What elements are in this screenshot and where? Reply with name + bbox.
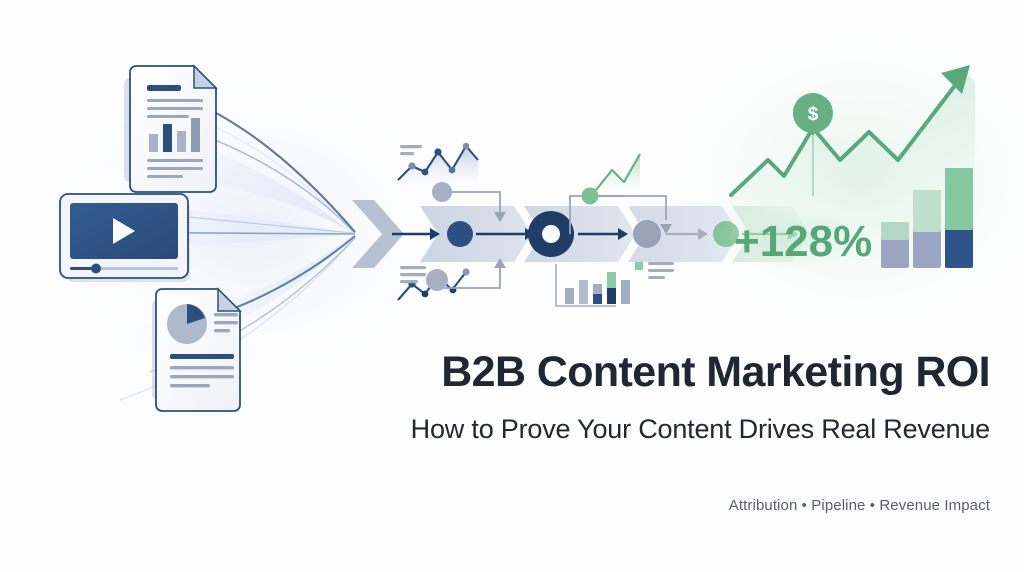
document-pie-chart-icon <box>152 289 240 411</box>
illustration-artwork: $ <box>0 0 1024 572</box>
document-bar-chart-icon <box>124 66 216 192</box>
pipeline-mini-bar-chart <box>556 262 674 306</box>
video-player-icon <box>60 194 190 282</box>
node-source <box>447 221 473 247</box>
dollar-pin-icon: $ <box>808 104 819 125</box>
node-stage <box>633 220 661 248</box>
metric-glow <box>704 200 888 276</box>
poster-canvas: $ B2B Content Marketing ROI How to Prove… <box>0 0 1024 572</box>
